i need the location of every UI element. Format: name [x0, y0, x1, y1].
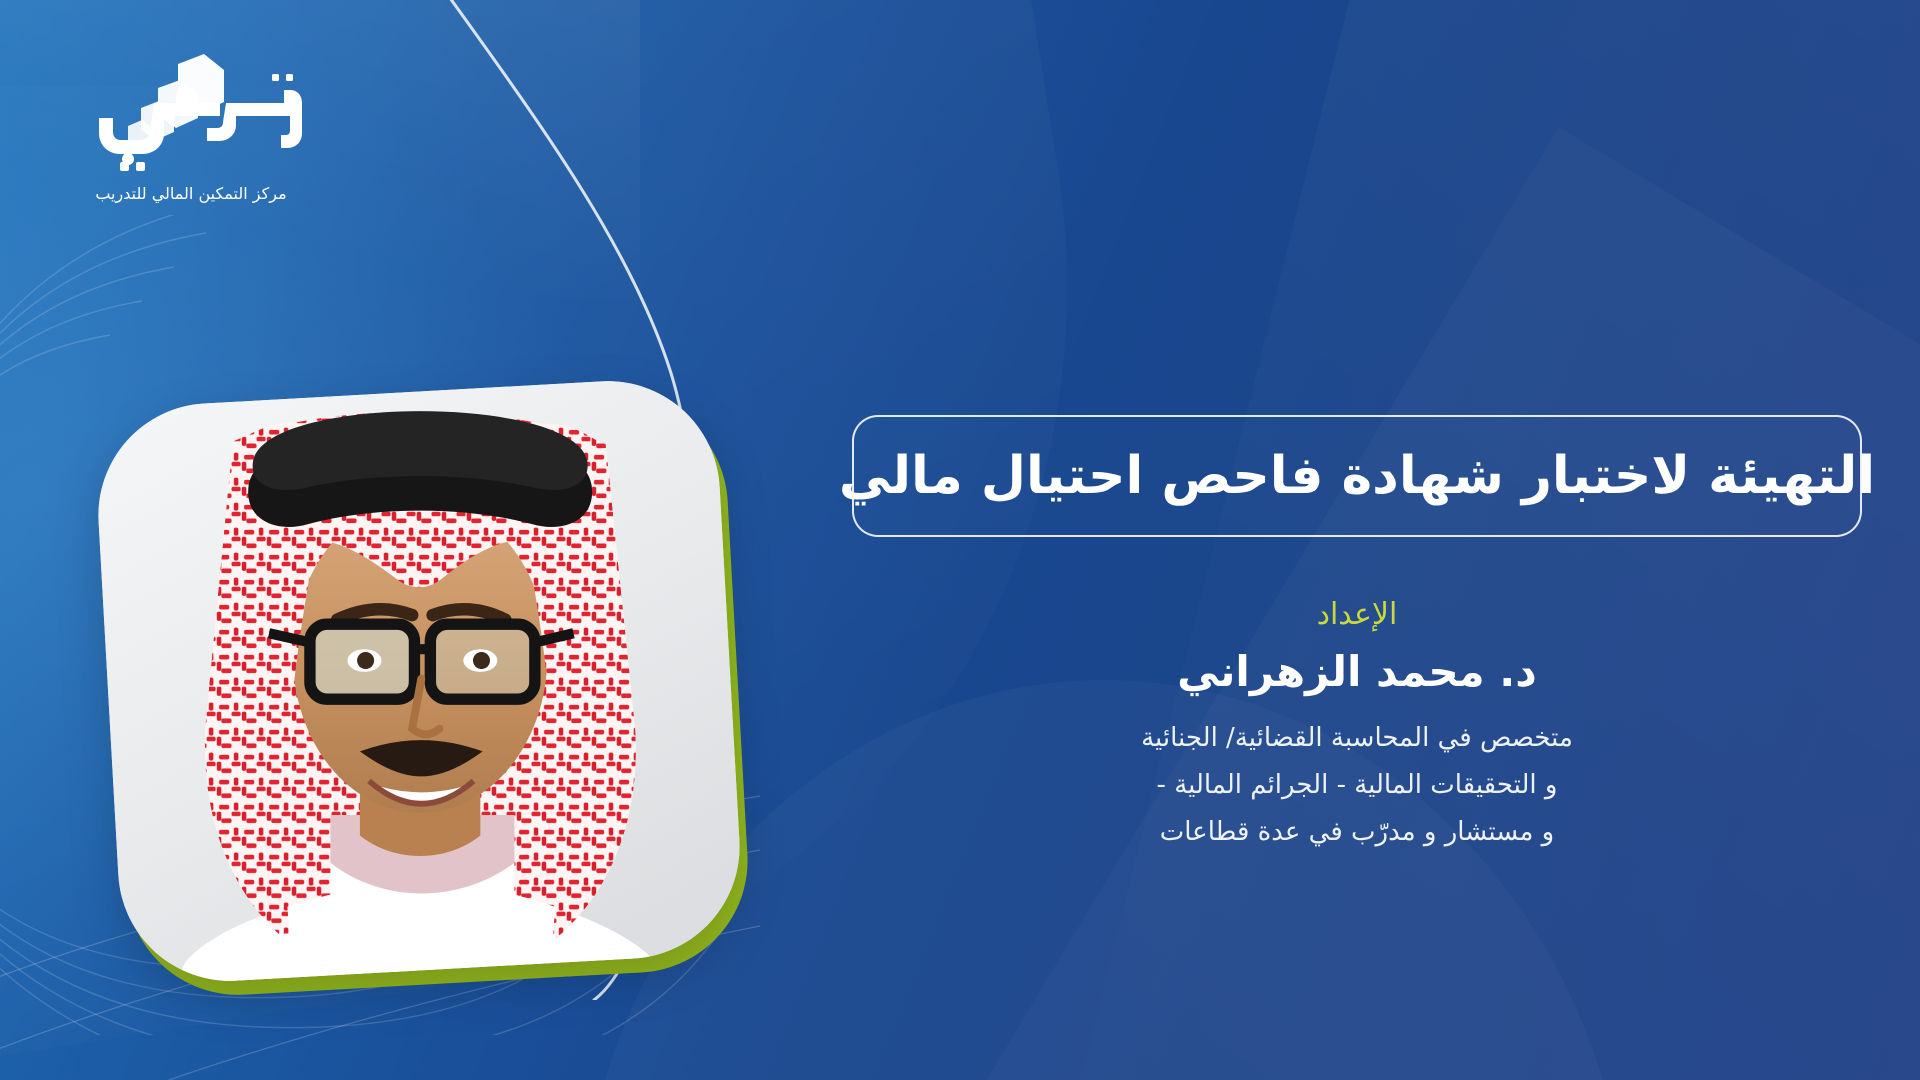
- speaker-portrait: [108, 392, 730, 970]
- author-kicker: الإعداد: [852, 595, 1862, 634]
- portrait-photo: [92, 375, 745, 987]
- presentation-slide: مركز التمكين المالي للتدريب: [0, 0, 1920, 1080]
- author-bio-line-2: و التحقيقات المالية - الجرائم المالية -: [852, 762, 1862, 809]
- logo-subtitle: مركز التمكين المالي للتدريب: [58, 184, 324, 203]
- logo-mark: [58, 44, 328, 194]
- page-title: التهيئة لاختبار شهادة فاحص احتيال مالي: [839, 450, 1875, 502]
- author-bio-line-1: متخصص في المحاسبة القضائية/ الجنائية: [852, 715, 1862, 762]
- author-block: الإعداد د. محمد الزهراني متخصص في المحاس…: [852, 595, 1862, 857]
- author-name: د. محمد الزهراني: [852, 644, 1862, 701]
- slide-title-plate: التهيئة لاختبار شهادة فاحص احتيال مالي: [852, 415, 1862, 537]
- brand-logo[interactable]: مركز التمكين المالي للتدريب: [58, 44, 328, 214]
- portrait-frame: [92, 375, 745, 987]
- author-bio-line-3: و مستشار و مدرّب في عدة قطاعات: [852, 809, 1862, 856]
